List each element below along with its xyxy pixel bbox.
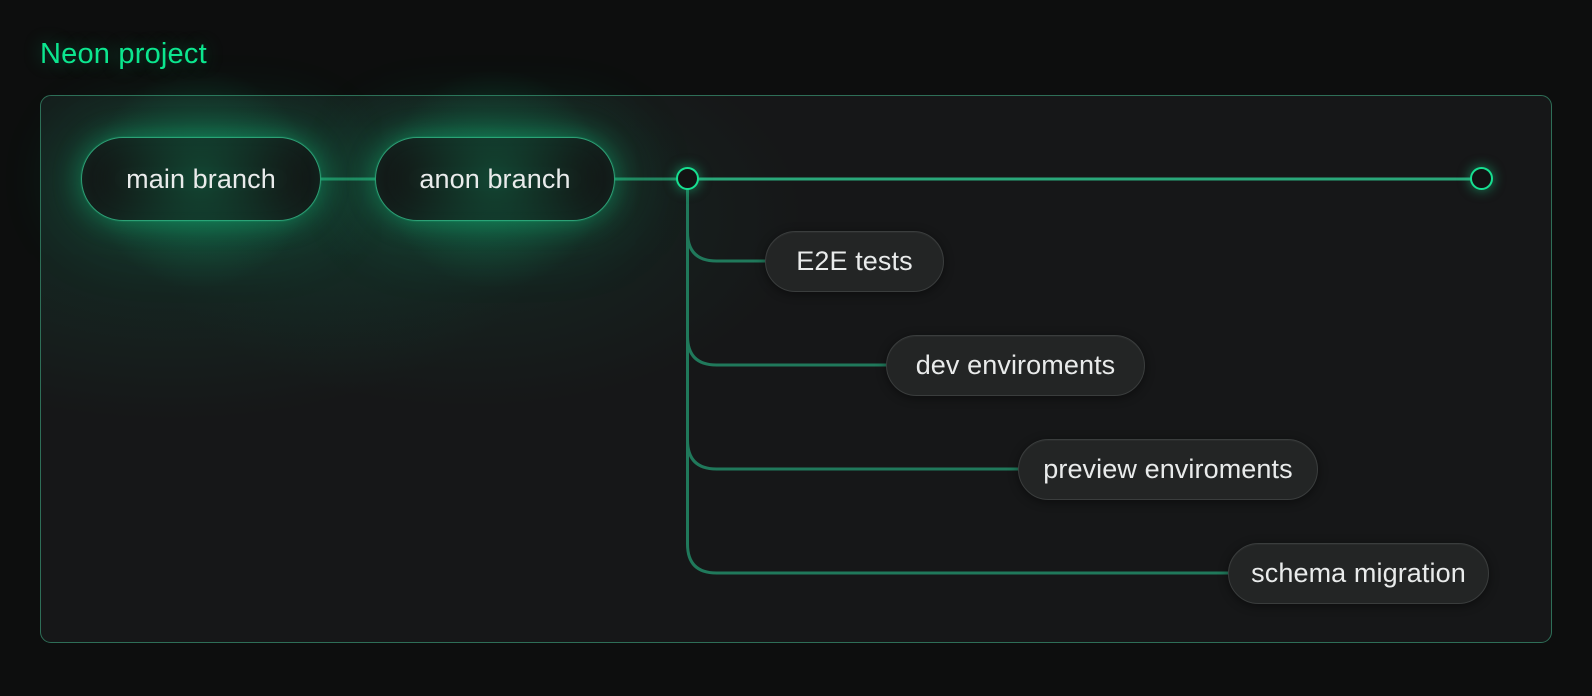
node-label-preview-enviroments: preview enviroments (1043, 454, 1293, 485)
branch-pill-main-branch[interactable]: main branch (81, 137, 321, 221)
node-pill-e2e-tests[interactable]: E2E tests (765, 231, 944, 292)
branch-pill-anon-branch[interactable]: anon branch (375, 137, 615, 221)
branch-label-anon: anon branch (419, 164, 570, 195)
diagram-canvas: Neon project main branch anon branch (0, 0, 1592, 696)
node-label-e2e-tests: E2E tests (796, 246, 912, 277)
node-pill-schema-migration[interactable]: schema migration (1228, 543, 1489, 604)
node-label-dev-enviroments: dev enviroments (916, 350, 1116, 381)
node-ring-timeline-end[interactable] (1470, 167, 1493, 190)
node-pill-dev-enviroments[interactable]: dev enviroments (886, 335, 1145, 396)
page-title: Neon project (40, 38, 207, 71)
node-ring-branch-point[interactable] (676, 167, 699, 190)
node-label-schema-migration: schema migration (1251, 558, 1466, 589)
node-pill-preview-enviroments[interactable]: preview enviroments (1018, 439, 1318, 500)
branch-label-main: main branch (126, 164, 276, 195)
